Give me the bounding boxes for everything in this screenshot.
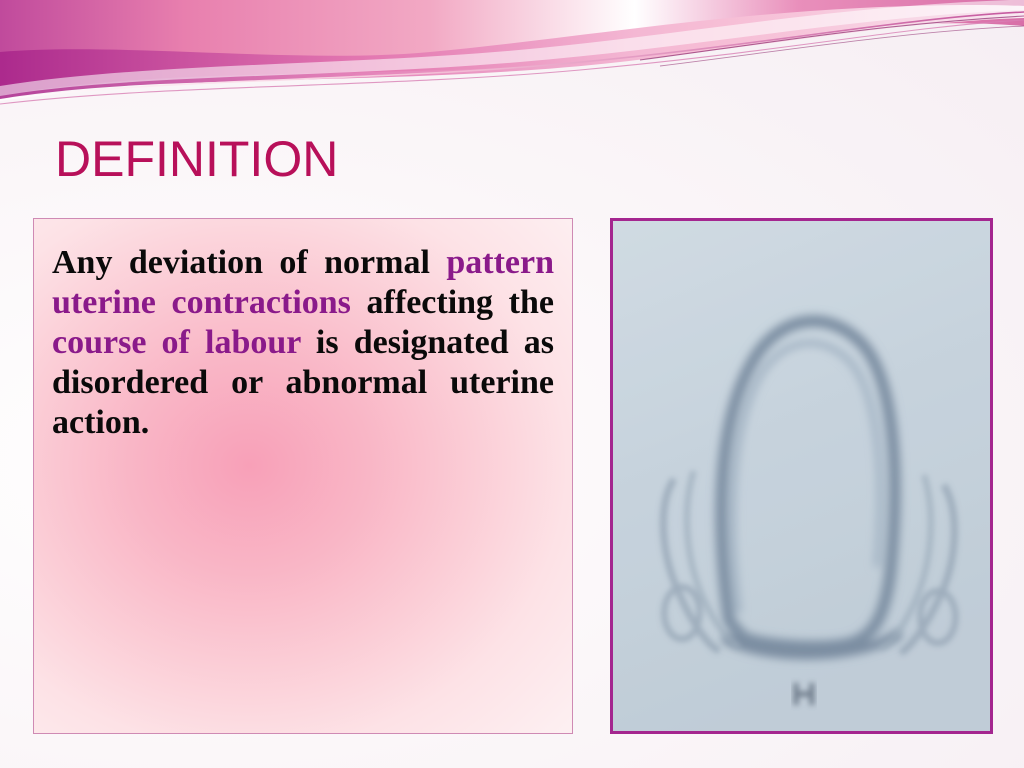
header-swoosh-decoration [0,0,1024,110]
page-title: DEFINITION [55,130,338,188]
uterus-image-card [610,218,993,734]
definition-card: Any deviation of normal pattern uterine … [33,218,573,734]
definition-segment-3: affecting the [367,284,554,321]
bicornuate-uterus-diagram-icon [613,221,990,731]
definition-segment-4: course of labour [52,324,316,361]
slide: DEFINITION Any deviation of normal patte… [0,0,1024,768]
definition-text: Any deviation of normal pattern uterine … [52,243,554,444]
definition-segment-1: Any deviation of normal [52,244,446,281]
